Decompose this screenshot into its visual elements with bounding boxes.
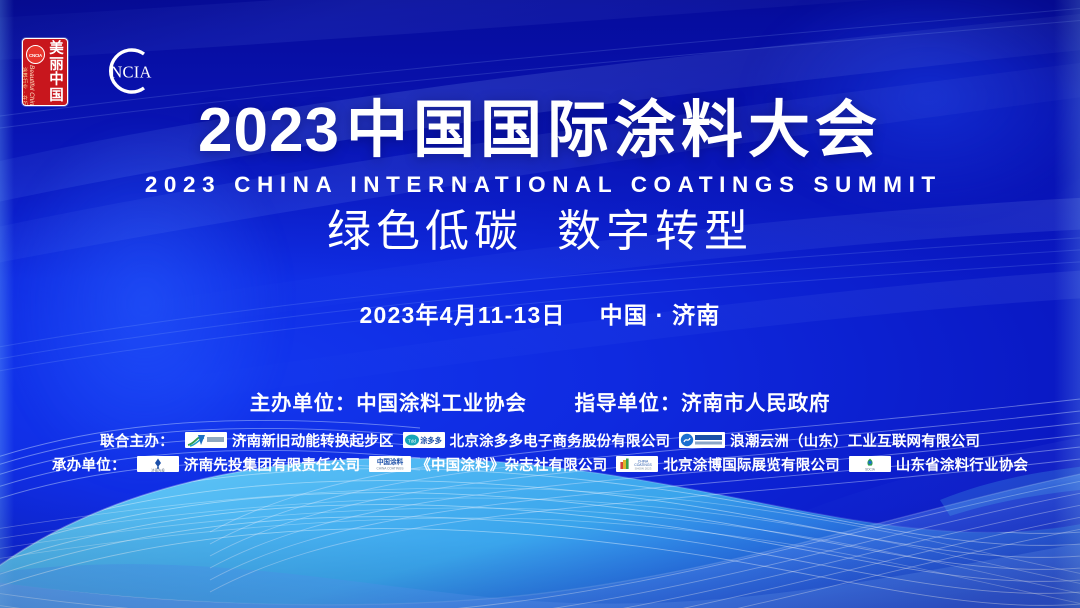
organizer-bar: 主办单位：中国涂料工业协会指导单位：济南市人民政府 (0, 390, 1080, 418)
sponsor-item: Tdd 涂多多 北京涂多多电子商务股份有限公司 (403, 430, 671, 451)
ncia-logo: NCIA (102, 42, 160, 100)
date-location-bar: 2023年4月11-13日中国 · 济南 (0, 300, 1080, 330)
shandong-assoc-logo: SDCIA (849, 456, 891, 472)
co-host-label: 联合主办： (100, 430, 174, 451)
page-title-cn: 2023中国国际涂料大会 (0, 96, 1080, 166)
svg-text:涂多多: 涂多多 (420, 436, 442, 445)
svg-text:Tdd: Tdd (408, 438, 416, 443)
sponsor-name: 济南先投集团有限责任公司 (184, 454, 360, 475)
ncia-logo-icon: NCIA (102, 42, 160, 100)
poster-canvas: CNCIA 美丽中国 Beautiful China 涂料行业 · 在行动 NC… (0, 0, 1080, 608)
page-title-en: 2023 CHINA INTERNATIONAL COATINGS SUMMIT (0, 172, 1080, 198)
host-organization: 主办单位：中国涂料工业协会 (250, 392, 527, 415)
sponsor-item: 浪潮云洲（山东）工业互联网有限公司 (679, 430, 980, 451)
svg-text:SDCIA: SDCIA (865, 467, 876, 471)
sponsor-rows: 联合主办： 济南新旧动能转换起步区 (0, 428, 1080, 476)
sponsor-item: 济南新旧动能转换起步区 (185, 430, 394, 451)
title-cn-text: 中国国际涂料大会 (346, 96, 882, 165)
sponsor-name: 山东省涂料行业协会 (896, 454, 1028, 475)
langchao-logo (679, 432, 725, 448)
tuoduoduo-logo: Tdd 涂多多 (403, 432, 445, 448)
title-year: 2023 (198, 96, 340, 165)
sponsor-row-organizer: 承办单位： 济南先投 济南先投集团有限责任公司 中国涂料 (0, 452, 1080, 476)
sponsor-name: 北京涂博国际展览有限公司 (663, 454, 839, 475)
organizer-label: 承办单位： (52, 454, 126, 475)
xiantou-logo: 济南先投 (137, 456, 179, 472)
sponsor-name: 北京涂多多电子商务股份有限公司 (450, 430, 671, 451)
slogan: 绿色低碳数字转型 (0, 204, 1080, 260)
beautiful-china-subtitle: 涂料行业 · 在行动 (22, 67, 27, 97)
beautiful-china-hanzi: 美丽中国 (48, 42, 65, 104)
sponsor-name: 《中国涂料》杂志社有限公司 (416, 454, 607, 475)
sponsor-row-co-host: 联合主办： 济南新旧动能转换起步区 (0, 428, 1080, 452)
poster-content: CNCIA 美丽中国 Beautiful China 涂料行业 · 在行动 NC… (0, 0, 1080, 608)
event-location: 中国 · 济南 (600, 302, 721, 328)
slogan-part-1: 绿色低碳 (327, 206, 523, 257)
svg-text:NCIA: NCIA (110, 63, 151, 82)
tubo-expo-logo: CHINA COATINGS SHOW 2023 (616, 456, 658, 472)
svg-text:CHINA COATINGS: CHINA COATINGS (377, 467, 404, 471)
sponsor-name: 浪潮云洲（山东）工业互联网有限公司 (730, 430, 980, 451)
sponsor-item: SDCIA 山东省涂料行业协会 (849, 454, 1028, 475)
sponsor-name: 济南新旧动能转换起步区 (232, 430, 394, 451)
sponsor-item: 中国涂料 CHINA COATINGS 《中国涂料》杂志社有限公司 (369, 454, 607, 475)
title-block: 2023中国国际涂料大会 2023 CHINA INTERNATIONAL CO… (0, 96, 1080, 198)
svg-text:SHOW 2023: SHOW 2023 (635, 467, 652, 471)
event-date: 2023年4月11-13日 (360, 302, 566, 328)
svg-text:中国涂料: 中国涂料 (377, 457, 404, 466)
sponsor-item: CHINA COATINGS SHOW 2023 北京涂博国际展览有限公司 (616, 454, 839, 475)
china-coatings-logo: 中国涂料 CHINA COATINGS (369, 456, 411, 472)
qibuqu-logo (185, 432, 227, 448)
guiding-organization: 指导单位：济南市人民政府 (575, 392, 831, 415)
svg-text:济南先投: 济南先投 (151, 467, 165, 472)
slogan-part-2: 数字转型 (557, 206, 753, 257)
cncia-seal-icon: CNCIA (26, 45, 45, 64)
sponsor-item: 济南先投 济南先投集团有限责任公司 (137, 454, 360, 475)
